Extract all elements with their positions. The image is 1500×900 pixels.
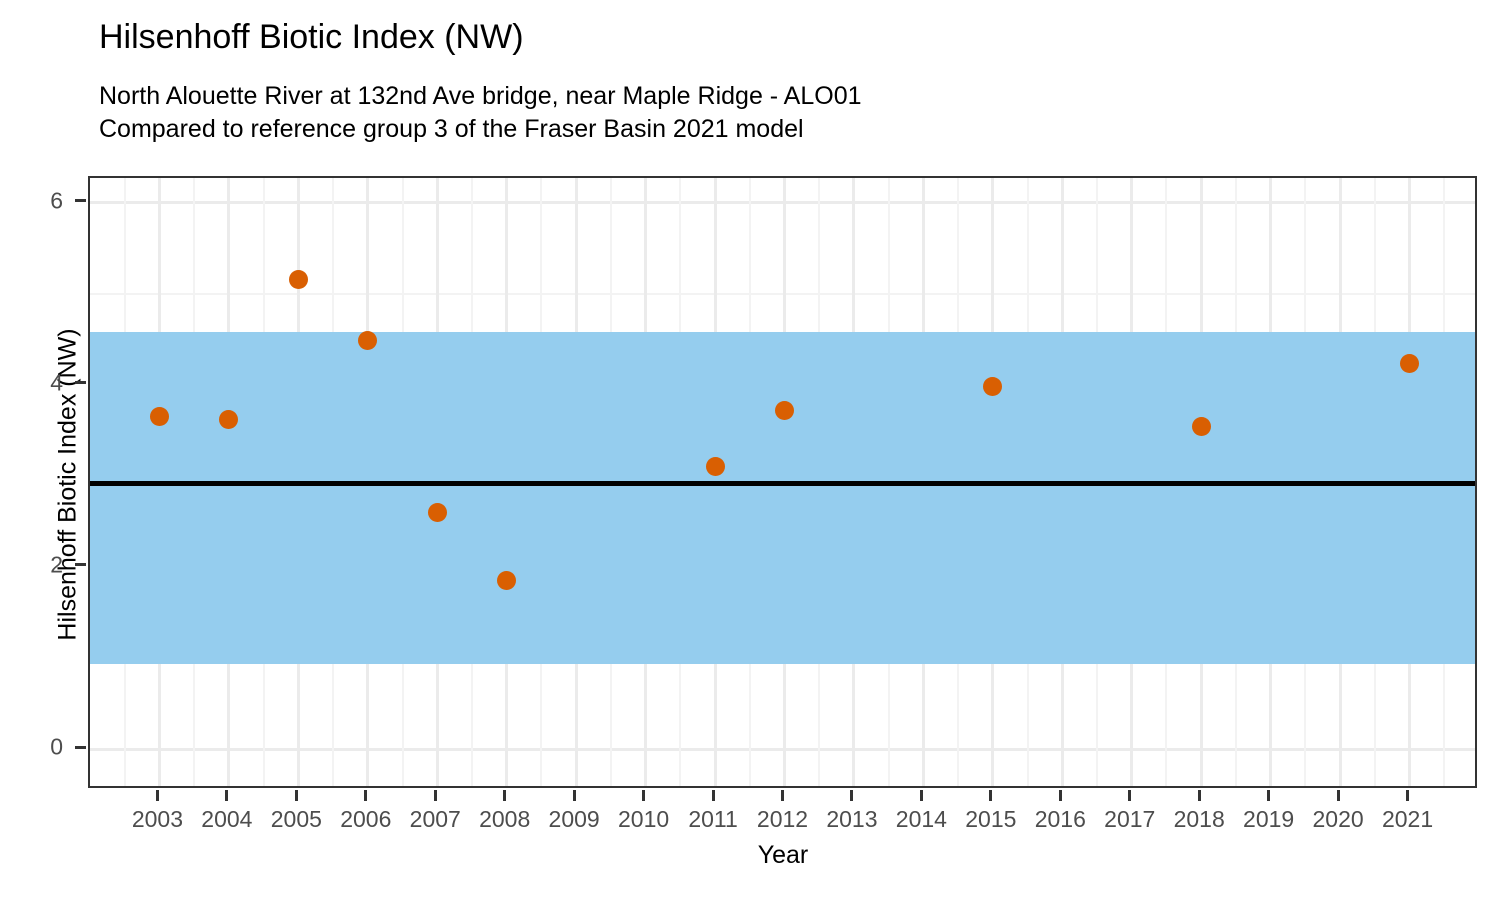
x-axis-tick <box>156 790 159 801</box>
x-axis-tick <box>434 790 437 801</box>
data-point[interactable] <box>358 331 377 350</box>
y-axis-tick <box>75 563 86 566</box>
y-axis-tick-label: 6 <box>0 187 63 214</box>
x-axis-tick <box>1128 790 1131 801</box>
x-axis-tick <box>295 790 298 801</box>
data-point[interactable] <box>1192 417 1211 436</box>
y-axis-tick-label: 0 <box>0 734 63 761</box>
y-axis-tick-label: 4 <box>0 369 63 396</box>
x-axis-tick-label: 2021 <box>1363 806 1453 833</box>
x-axis-tick <box>1337 790 1340 801</box>
x-axis-tick <box>920 790 923 801</box>
page-title: Hilsenhoff Biotic Index (NW) <box>99 16 524 58</box>
y-axis-tick-label: 2 <box>0 551 63 578</box>
reference-band <box>90 332 1475 664</box>
x-axis-tick <box>1267 790 1270 801</box>
plot-panel <box>88 176 1477 788</box>
x-axis-tick <box>1406 790 1409 801</box>
x-axis-tick <box>850 790 853 801</box>
y-axis-tick <box>75 746 86 749</box>
data-point[interactable] <box>428 503 447 522</box>
reference-line <box>90 481 1475 486</box>
y-axis-tick <box>75 381 86 384</box>
x-axis-tick <box>642 790 645 801</box>
x-axis-tick <box>503 790 506 801</box>
x-axis-tick <box>225 790 228 801</box>
x-axis-tick <box>781 790 784 801</box>
chart-root: Hilsenhoff Biotic Index (NW) North Aloue… <box>0 0 1500 900</box>
data-point[interactable] <box>775 401 794 420</box>
x-axis-tick <box>989 790 992 801</box>
data-point[interactable] <box>289 270 308 289</box>
x-axis-tick <box>712 790 715 801</box>
x-axis-tick <box>364 790 367 801</box>
x-axis-title: Year <box>88 841 1478 870</box>
x-axis-tick <box>1198 790 1201 801</box>
x-axis-tick <box>1059 790 1062 801</box>
chart-subtitle: North Alouette River at 132nd Ave bridge… <box>99 80 862 146</box>
x-axis-tick <box>573 790 576 801</box>
data-point[interactable] <box>706 457 725 476</box>
y-axis-title: Hilsenhoff Biotic Index (NW) <box>54 185 83 785</box>
y-axis-tick <box>75 199 86 202</box>
data-point[interactable] <box>150 407 169 426</box>
